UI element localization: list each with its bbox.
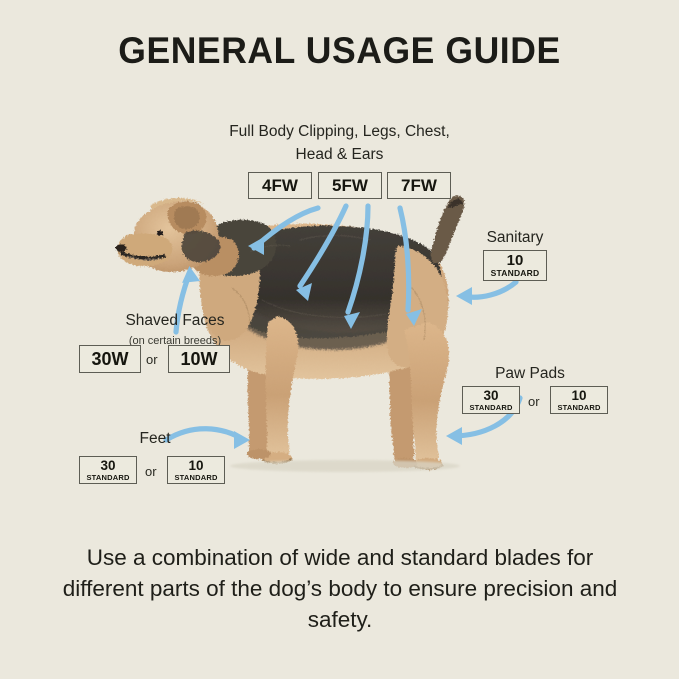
- blade-box-feet-30[interactable]: 30 STANDARD: [79, 456, 137, 484]
- blade-number: 10: [188, 459, 203, 473]
- blade-standard-label: STANDARD: [86, 474, 129, 482]
- shaved-faces-or: or: [146, 352, 158, 367]
- feet-or: or: [145, 464, 157, 479]
- paw-pads-label: Paw Pads: [460, 364, 600, 384]
- blade-standard-label: STANDARD: [491, 269, 540, 278]
- blade-standard-label: STANDARD: [469, 404, 512, 412]
- arrow-fullbody-3: [348, 206, 368, 312]
- footer-text: Use a combination of wide and standard b…: [55, 542, 625, 635]
- blade-standard-label: STANDARD: [174, 474, 217, 482]
- feet-label: Feet: [95, 429, 215, 449]
- blade-number: 10: [571, 389, 586, 403]
- blade-number: 7FW: [401, 177, 437, 194]
- sanitary-label: Sanitary: [455, 228, 575, 248]
- blade-number: 5FW: [332, 177, 368, 194]
- blade-number: 30W: [91, 350, 128, 368]
- blade-number: 4FW: [262, 177, 298, 194]
- blade-number: 30: [483, 389, 498, 403]
- full-body-label-line2: Head & Ears: [0, 145, 679, 165]
- blade-box-sanitary-10[interactable]: 10 STANDARD: [483, 250, 547, 281]
- blade-box-4fw[interactable]: 4FW: [248, 172, 312, 199]
- full-body-label-line1: Full Body Clipping, Legs, Chest,: [0, 122, 679, 142]
- blade-number: 10: [507, 253, 524, 268]
- blade-number: 30: [100, 459, 115, 473]
- infographic-page: GENERAL USAGE GUIDE: [0, 0, 679, 679]
- arrow-fullbody-2: [300, 206, 346, 286]
- blade-box-7fw[interactable]: 7FW: [387, 172, 451, 199]
- blade-box-5fw[interactable]: 5FW: [318, 172, 382, 199]
- blade-standard-label: STANDARD: [557, 404, 600, 412]
- blade-number: 10W: [180, 350, 217, 368]
- shaved-faces-label: Shaved Faces: [90, 311, 260, 331]
- paw-pads-or: or: [528, 394, 540, 409]
- blade-box-paw-30[interactable]: 30 STANDARD: [462, 386, 520, 414]
- blade-box-30w[interactable]: 30W: [79, 345, 141, 373]
- blade-box-feet-10[interactable]: 10 STANDARD: [167, 456, 225, 484]
- blade-box-10w[interactable]: 10W: [168, 345, 230, 373]
- blade-box-paw-10[interactable]: 10 STANDARD: [550, 386, 608, 414]
- arrow-fullbody-4: [400, 208, 409, 310]
